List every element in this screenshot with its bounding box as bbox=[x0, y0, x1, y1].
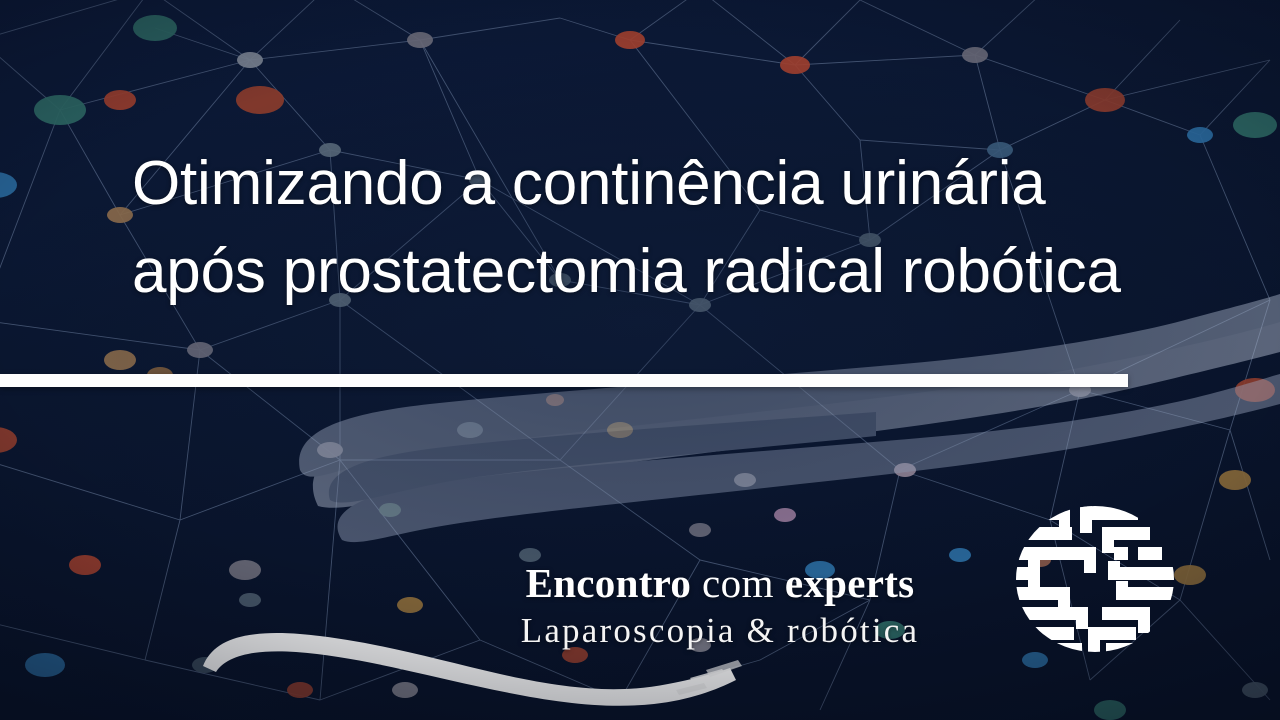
brand-name-bold-1: Encontro bbox=[526, 560, 692, 606]
circular-network-logo-icon bbox=[1010, 503, 1180, 655]
brand-name: Encontro com experts bbox=[440, 560, 1000, 607]
brand-subtitle: Laparoscopia & robótica bbox=[440, 611, 1000, 651]
title-line-2: após prostatectomia radical robótica bbox=[132, 228, 1192, 316]
page-title: Otimizando a continência urinária após p… bbox=[132, 140, 1192, 316]
brand-name-light: com bbox=[691, 560, 785, 606]
brand-name-bold-2: experts bbox=[785, 560, 915, 606]
presentation-slide: Otimizando a continência urinária após p… bbox=[0, 0, 1280, 720]
title-line-1: Otimizando a continência urinária bbox=[132, 140, 1192, 228]
white-divider-bar bbox=[0, 374, 1128, 387]
brand-wordmark: Encontro com experts Laparoscopia & robó… bbox=[440, 560, 1000, 651]
